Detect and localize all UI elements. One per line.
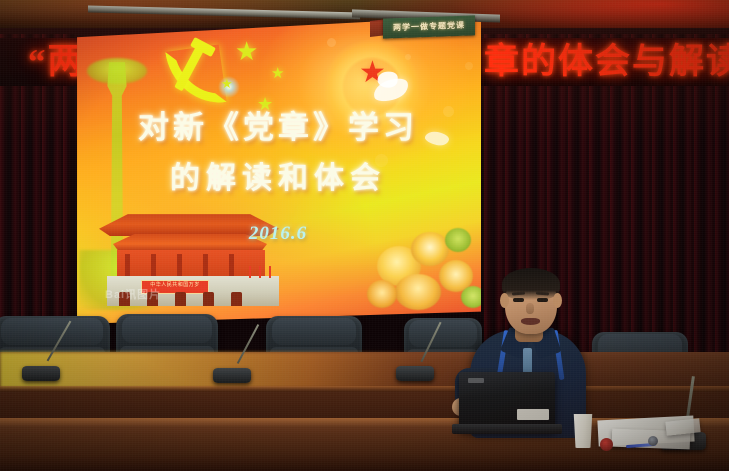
desk-trinket	[600, 438, 613, 451]
conference-room-photo: “两学 章的体会与解读 两学一做专题党课 ★	[0, 0, 729, 471]
slide-title-line-1: 对新《党章》学习	[75, 110, 481, 146]
flag-star-icon: ★	[235, 36, 258, 67]
paper-cup	[572, 414, 594, 448]
table-edge-trim	[0, 386, 729, 392]
chair-headrest	[122, 316, 212, 343]
conference-microphone	[22, 318, 62, 382]
slide-title-line-2: 的解读和体会	[75, 162, 481, 196]
lecture-theme-ribbon: 两学一做专题党课	[383, 15, 475, 38]
laptop-base	[452, 424, 562, 434]
peony-leaf	[461, 286, 481, 308]
image-watermark: Bai讯图片	[105, 286, 161, 302]
gate-pillar	[151, 254, 156, 278]
gate-pillar	[229, 254, 234, 278]
laptop-computer[interactable]	[459, 372, 555, 430]
laptop-brand-logo	[468, 378, 484, 383]
gate-arch	[175, 292, 186, 306]
gate-pillar	[203, 254, 208, 278]
microphone-base	[396, 366, 434, 381]
flag-star-icon: ★	[221, 76, 233, 92]
microphone-base	[22, 366, 60, 381]
flagpole	[259, 266, 261, 278]
laptop-asset-label	[517, 409, 549, 420]
presentation-slide: ★ ★ ★ ★ ★	[75, 14, 481, 324]
led-banner-text-right: 章的体会与解读	[484, 42, 729, 82]
gate-pillar	[125, 254, 130, 278]
slide-date: 2016.6	[75, 223, 481, 245]
speaker-ear-right	[553, 293, 562, 308]
speaker-ear-left	[500, 293, 509, 308]
bokeh-dot	[465, 62, 473, 70]
chair-headrest	[272, 318, 356, 345]
speaker-mouth	[521, 318, 540, 325]
gate-pillar	[177, 254, 182, 278]
gate-arch	[203, 292, 214, 306]
desk-trinket	[648, 436, 658, 446]
flagpole	[269, 266, 271, 278]
microphone-base	[213, 368, 251, 383]
speaker-nose	[526, 303, 534, 314]
gate-arch	[231, 292, 242, 306]
speaker-hair	[502, 268, 560, 300]
conference-microphone	[396, 320, 436, 382]
ribbon-label: 两学一做专题党课	[383, 15, 475, 38]
peony-bloom	[367, 280, 397, 308]
projection-screen: ★ ★ ★ ★ ★	[75, 14, 481, 324]
speaker-eye-left	[513, 298, 524, 302]
peony-bloom	[395, 274, 441, 310]
conference-microphone	[213, 322, 253, 384]
flagpole	[249, 266, 251, 278]
speaker-eye-right	[537, 298, 548, 302]
flag-star-icon: ★	[271, 64, 284, 82]
